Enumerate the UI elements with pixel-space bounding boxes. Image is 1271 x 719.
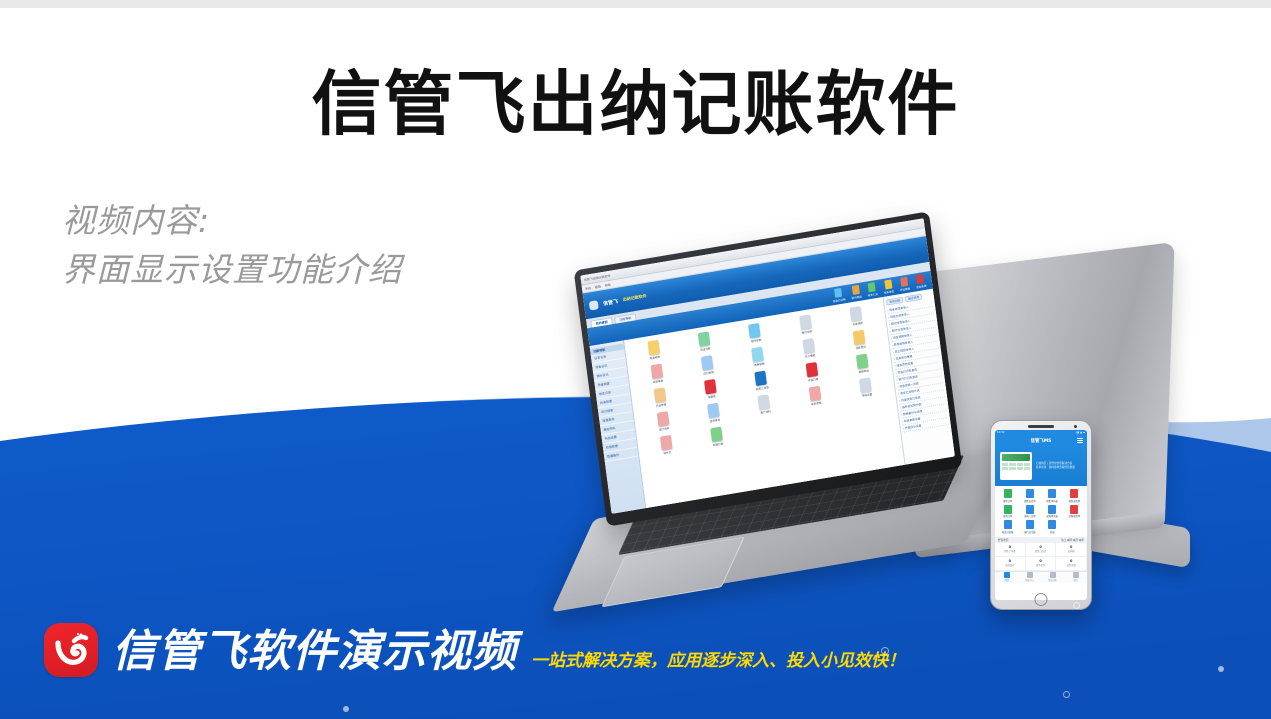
phone-stat-cell: 0销售订单额	[995, 543, 1026, 557]
function-icon-glyph	[799, 314, 812, 330]
subtitle-label: 视频内容:	[62, 196, 402, 245]
phone-stats-grid: 0销售订单额0销售已收款0采购额0采购退款0销售毛利0销售金额	[995, 543, 1087, 571]
phone-tab-user[interactable]: 我的	[1064, 572, 1087, 583]
phone-grid-item[interactable]: 现金日记账	[997, 520, 1018, 534]
function-icon-glyph	[704, 379, 717, 395]
function-icon-glyph	[856, 353, 869, 369]
phone-camera-icon	[1074, 425, 1077, 428]
function-icon[interactable]: 应付单据	[683, 352, 733, 379]
function-icon-label: 现金付款	[700, 346, 711, 352]
function-icon-glyph	[650, 364, 663, 380]
function-icon[interactable]: 账户资料	[740, 391, 790, 418]
toolbar-button[interactable]: 现金日记账	[831, 287, 846, 303]
function-icon-glyph	[660, 435, 673, 451]
function-icon-label: 操作员	[663, 450, 671, 455]
desktop-app-window: 信管飞出纳记账软件 系统 基础 帮助 信管飞 出纳记账软件 我的桌面	[580, 218, 955, 514]
function-icon-glyph	[806, 362, 819, 378]
phone-grid-item[interactable]: 销售出库单	[1019, 489, 1040, 503]
function-icon[interactable]: 日记账簿	[635, 384, 685, 411]
phone-hero-banner: 扫描购买 | 现代化管理解决方案 简单易用 · 随时随地查看经营数据	[995, 446, 1087, 486]
function-icon-glyph	[809, 386, 822, 402]
function-icon-label: 往来单位	[710, 418, 721, 424]
bird-logo-icon	[44, 623, 98, 677]
phone-grid-item[interactable]: 采购退货单	[1064, 505, 1085, 519]
function-icon-label: 日记账簿	[656, 402, 667, 408]
phone-nav-bar: 信管飞MS	[995, 435, 1087, 446]
toolbar-icon	[916, 274, 924, 284]
function-icon-label: 费用报销	[754, 362, 765, 368]
phone-tab-label: 经营分析	[1048, 578, 1057, 582]
function-icon-label: 应收单据	[653, 378, 664, 384]
function-icon[interactable]: 权限分配	[692, 423, 742, 450]
phone-stat-label: 销售金额	[1067, 563, 1076, 567]
phone-grid-icon	[1070, 505, 1078, 514]
function-icon[interactable]: 部门资料	[638, 408, 688, 435]
phone-tab-bar: 首页单据中心经营分析我的	[995, 571, 1087, 583]
phone-signal-icons: ▮▮ ▲ ▰	[1077, 431, 1086, 434]
function-icon[interactable]: 现金收款	[629, 337, 679, 364]
subtitle-topic: 界面显示设置功能介绍	[62, 245, 402, 294]
function-icon-label: 员工借款	[805, 353, 816, 359]
toolbar-button[interactable]: 退出系统	[915, 274, 927, 290]
brand-bar: 信管飞软件演示视频 一站式解决方案，应用逐步深入、投入小见效快！	[44, 623, 905, 677]
phone-stat-label: 销售已收款	[1035, 549, 1047, 553]
phone-home-button[interactable]	[1035, 593, 1048, 606]
phone-grid-item[interactable]: 采购入库单	[1019, 505, 1040, 519]
app-logo-icon	[589, 300, 599, 310]
phone-grid-icon	[1070, 489, 1078, 498]
function-icon-label: 资金日报	[808, 377, 819, 383]
toolbar-icon	[834, 288, 842, 298]
decor-dot	[343, 706, 349, 712]
function-icon[interactable]: 还款登记	[835, 327, 885, 354]
toolbar-button[interactable]: 凭证模板	[898, 277, 910, 293]
decor-dot	[1218, 666, 1224, 672]
hero-text-block: 扫描购买 | 现代化管理解决方案 简单易用 · 随时随地查看经营数据	[1036, 462, 1082, 470]
phone-speaker	[1028, 425, 1054, 428]
function-icon-label: 部门资料	[659, 426, 670, 432]
function-icon-glyph	[853, 330, 866, 346]
function-icon[interactable]: 应收单据	[632, 360, 682, 387]
phone-grid-label: 银行日记账	[1024, 530, 1036, 534]
function-icon-glyph	[755, 370, 768, 386]
function-icon[interactable]: 余额表	[686, 376, 736, 403]
phone-grid-label: 全部	[1050, 530, 1055, 534]
phone-stat-cell: 0采购退款	[995, 557, 1026, 571]
function-icon-label: 币种设置	[862, 392, 873, 398]
phone-tab-label: 我的	[1073, 578, 1077, 582]
phone-grid-item[interactable]: 销售订单	[997, 489, 1018, 503]
function-icon-label: 银行付款	[801, 329, 812, 335]
function-icon-glyph	[707, 403, 720, 419]
toolbar-label: 凭证模板	[900, 286, 911, 292]
phone-stat-label: 采购退款	[1005, 563, 1014, 567]
toolbar-label: 往来单位	[884, 289, 895, 295]
phone-stat-cell: 0采购额	[1056, 543, 1087, 557]
function-icon-glyph	[710, 427, 723, 443]
function-icon-label: 数据导出	[858, 368, 869, 374]
toolbar-button[interactable]: 收支汇总	[866, 282, 878, 298]
decor-dot	[881, 647, 889, 655]
phone-grid-item[interactable]: 销售退货单	[1064, 489, 1085, 503]
function-icon-glyph	[752, 347, 765, 363]
phone-stat-label: 销售毛利	[1036, 563, 1045, 567]
toolbar-icon	[852, 285, 860, 295]
phone-grid-item[interactable]: 全部	[1042, 520, 1063, 534]
phone-grid-icon	[1048, 505, 1056, 514]
function-icon-label: 银行收款	[751, 338, 762, 344]
phone-grid-icon	[1004, 489, 1012, 498]
function-icon-glyph	[802, 338, 815, 354]
laptop-screen: 信管飞出纳记账软件 系统 基础 帮助 信管飞 出纳记账软件 我的桌面	[580, 218, 955, 514]
toolbar-icon	[884, 279, 892, 289]
toolbar-label: 银行存款	[851, 295, 862, 301]
function-icon-glyph	[850, 306, 863, 322]
toolbar-icon	[868, 282, 876, 292]
chart-icon	[1050, 572, 1056, 578]
function-icon[interactable]: 银行收款	[730, 320, 780, 347]
phone-grid-icon	[1026, 520, 1034, 529]
phone-device: 10:32 ▮▮ ▲ ▰ 信管飞MS	[990, 420, 1092, 610]
phone-grid-label: 销售出库单	[1024, 499, 1036, 503]
function-icon-glyph	[657, 411, 670, 427]
menu-system[interactable]: 系统	[585, 286, 591, 291]
function-icon-glyph	[653, 387, 666, 403]
function-icon-label: 现金收款	[649, 355, 660, 361]
phone-grid-icon	[1026, 489, 1034, 498]
function-icon[interactable]: 银行付款	[781, 311, 831, 338]
function-icon[interactable]: 员工借款	[784, 335, 834, 362]
phone-grid-label: 销售退货单	[1069, 499, 1081, 503]
phone-grid-label: 销售单列表	[1046, 499, 1058, 503]
top-gray-strip	[0, 0, 1271, 8]
phone-tab-home[interactable]: 首页	[995, 572, 1018, 583]
phone-grid-label: 采购单列表	[1046, 514, 1058, 518]
page-title: 信管飞出纳记账软件	[0, 62, 1271, 146]
phone-grid-label: 采购订单	[1003, 514, 1012, 518]
phone-grid-item[interactable]: 银行日记账	[1019, 520, 1040, 534]
function-icon-label: 资金调拨	[852, 321, 863, 327]
toolbar-label: 退出系统	[916, 284, 927, 290]
menu-help[interactable]: 帮助	[605, 282, 611, 287]
phone-grid-icon	[1004, 505, 1012, 514]
user-icon	[1073, 572, 1079, 578]
function-icon-glyph	[698, 331, 711, 347]
status-operator: 操作员：管理员	[626, 512, 646, 514]
phone-grid-item[interactable]: 采购单列表	[1042, 505, 1063, 519]
hamburger-icon[interactable]	[1077, 437, 1083, 445]
phone-section-title: 经营状况	[998, 538, 1008, 542]
home-icon	[1004, 572, 1010, 578]
function-icon[interactable]: 操作员	[641, 432, 691, 459]
toolbar-label: 收支汇总	[867, 292, 878, 298]
function-icon-label: 权限分配	[713, 441, 724, 447]
phone-grid-icon	[1048, 489, 1056, 498]
function-icon-glyph	[701, 355, 714, 371]
phone-grid-label: 现金日记账	[1002, 530, 1014, 534]
function-icon[interactable]: 资金调拨	[831, 303, 881, 330]
subtitle-block: 视频内容: 界面显示设置功能介绍	[62, 196, 402, 294]
phone-clock: 10:32	[997, 431, 1004, 434]
decor-dot	[1063, 691, 1070, 698]
phone-function-grid: 销售订单销售出库单销售单列表销售退货单采购订单采购入库单采购单列表采购退货单现金…	[995, 486, 1087, 537]
phone-screen: 10:32 ▮▮ ▲ ▰ 信管飞MS	[995, 430, 1087, 600]
phone-section-filters[interactable]: 今日 本周 本月 本年	[1061, 538, 1084, 542]
slide-root: 信管飞出纳记账软件 视频内容: 界面显示设置功能介绍 信管飞出纳记账软件 系统	[0, 0, 1271, 719]
phone-grid-icon	[1004, 520, 1012, 529]
function-icon[interactable]: 费用报销	[733, 344, 783, 371]
function-icon[interactable]: 现金付款	[679, 328, 729, 355]
function-icon-glyph	[647, 340, 660, 356]
function-icon-label: 收支项目	[811, 401, 822, 407]
function-icon[interactable]: 往来单位	[689, 400, 739, 427]
function-icon-glyph	[749, 323, 762, 339]
function-icon-label: 应付单据	[703, 370, 714, 376]
phone-tab-label: 单据中心	[1025, 578, 1034, 582]
phone-stat-cell: 0销售已收款	[1026, 543, 1057, 557]
phone-grid-icon	[1026, 505, 1034, 514]
decor-dot	[1073, 602, 1080, 609]
phone-stat-cell: 0销售金额	[1056, 557, 1087, 571]
status-date: 2023-08-16	[650, 509, 667, 514]
function-icon-glyph	[758, 394, 771, 410]
doc-icon	[1027, 572, 1033, 578]
function-icon[interactable]: 收支项目	[790, 383, 840, 410]
function-icon-glyph	[859, 377, 872, 393]
function-icon[interactable]: 币种设置	[841, 374, 891, 401]
phone-tab-chart[interactable]: 经营分析	[1041, 572, 1064, 583]
phone-grid-label: 采购退货单	[1069, 514, 1081, 518]
phone-stat-label: 采购额	[1068, 549, 1075, 553]
function-icon[interactable]: 数据导出	[838, 350, 888, 377]
function-icon[interactable]: 收支汇总表	[736, 367, 786, 394]
brand-name: 信管飞软件演示视频	[112, 627, 517, 677]
phone-stat-label: 销售订单额	[1004, 549, 1016, 553]
phone-tab-doc[interactable]: 单据中心	[1018, 572, 1041, 583]
menu-basic[interactable]: 基础	[595, 284, 601, 289]
phone-stat-cell: 0销售毛利	[1026, 557, 1057, 571]
phone-grid-item[interactable]: 销售单列表	[1042, 489, 1063, 503]
function-icon[interactable]: 资金日报	[787, 359, 837, 386]
device-mockup-group: 信管飞出纳记账软件 系统 基础 帮助 信管飞 出纳记账软件 我的桌面	[560, 240, 1271, 640]
function-icon-label: 还款登记	[855, 345, 866, 351]
function-icon-label: 余额表	[708, 394, 716, 399]
phone-app-title: 信管飞MS	[1031, 438, 1052, 444]
toolbar-icon	[900, 277, 908, 287]
function-icon-label: 收支汇总表	[756, 385, 769, 391]
hero-card-dots	[1002, 463, 1030, 470]
phone-grid-label: 采购入库单	[1024, 514, 1036, 518]
toolbar-button[interactable]: 银行存款	[850, 285, 862, 301]
app-brand-text: 信管飞	[603, 297, 619, 306]
function-icon-label: 账户资料	[760, 409, 771, 415]
app-brand-sub: 出纳记账软件	[622, 293, 646, 303]
phone-grid-icon	[1048, 520, 1056, 529]
hero-text-2: 简单易用 · 随时随地查看经营数据	[1036, 466, 1082, 470]
hero-card-band	[1002, 454, 1030, 461]
brand-tagline: 一站式解决方案，应用逐步深入、投入小见效快！	[531, 650, 905, 677]
phone-grid-item[interactable]: 采购订单	[997, 505, 1018, 519]
phone-tab-label: 首页	[1004, 578, 1008, 582]
toolbar-button[interactable]: 往来单位	[882, 279, 894, 295]
hero-card-image	[1000, 452, 1032, 480]
phone-grid-label: 销售订单	[1003, 499, 1012, 503]
